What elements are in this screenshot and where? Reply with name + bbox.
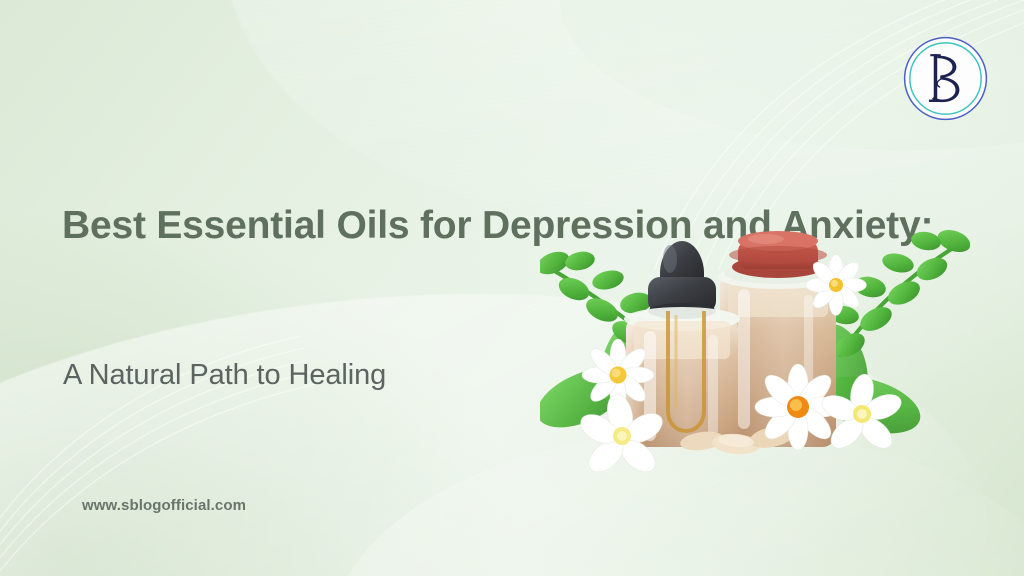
product-illustration — [540, 215, 970, 480]
brand-logo[interactable] — [902, 35, 989, 122]
page-subtitle: A Natural Path to Healing — [63, 357, 386, 393]
daisy-flower-upper-right — [806, 255, 867, 316]
website-url: www.sblogofficial.com — [82, 497, 246, 514]
blog-banner: Best Essential Oils for Depression and A… — [0, 0, 1024, 576]
